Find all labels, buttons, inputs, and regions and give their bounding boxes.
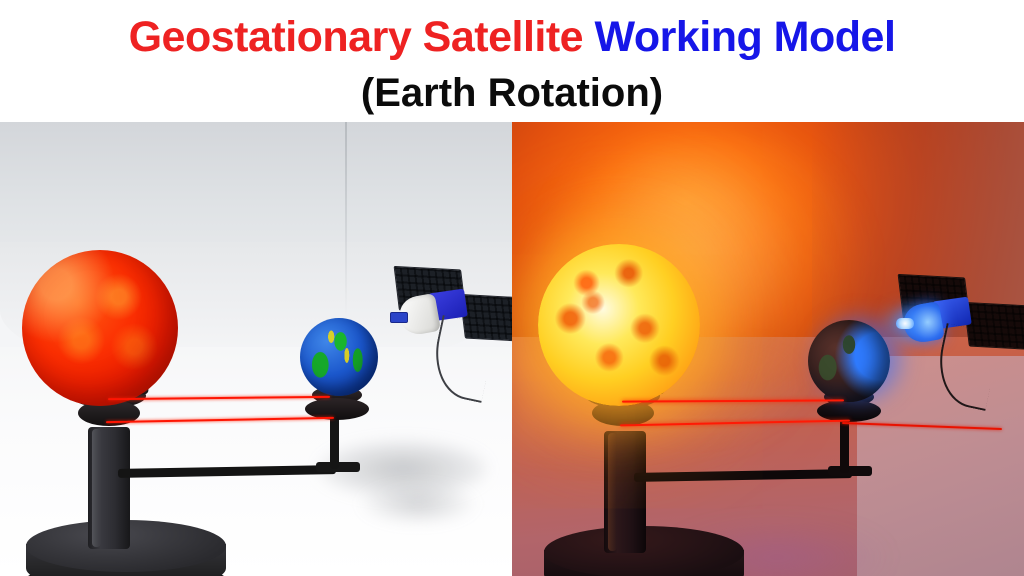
satellite-icon <box>894 272 1016 382</box>
earth-icon <box>300 318 378 396</box>
page-subtitle: (Earth Rotation) <box>0 70 1024 116</box>
rotating-arm <box>634 469 852 482</box>
laser-beam-upper <box>622 399 844 402</box>
pillar-highlight <box>92 429 101 547</box>
working-model-right <box>512 122 1024 576</box>
earth-icon <box>808 320 890 402</box>
laser-beam-lower <box>620 420 850 427</box>
pillar-highlight <box>608 433 617 551</box>
support-pillar <box>604 431 646 553</box>
arm-riser <box>840 418 849 473</box>
arm-end-cap <box>828 466 872 476</box>
title-part-blue: Working Model <box>595 13 896 61</box>
laser-beam-trailing <box>842 422 1002 430</box>
screenshot-root: Geostationary Satellite Working Model (E… <box>0 0 1024 576</box>
title-part-red: Geostationary Satellite <box>129 13 595 61</box>
led-icon <box>896 318 914 329</box>
arm-riser <box>330 414 339 469</box>
support-pillar <box>88 427 130 549</box>
sun-icon <box>22 250 178 406</box>
laser-beam-lower <box>106 417 334 423</box>
rotating-arm <box>118 465 336 478</box>
title-block: Geostationary Satellite Working Model (E… <box>0 0 1024 122</box>
photo-pair: craftpiller <box>0 122 1024 576</box>
working-model-left <box>0 122 512 576</box>
photo-left-lamp-off: craftpiller <box>0 122 512 576</box>
dish-feed <box>390 312 408 323</box>
photo-right-lamp-on: craftpiller <box>512 122 1024 576</box>
page-title: Geostationary Satellite Working Model <box>0 13 1024 61</box>
satellite-icon <box>390 264 512 374</box>
sun-icon <box>538 244 700 406</box>
